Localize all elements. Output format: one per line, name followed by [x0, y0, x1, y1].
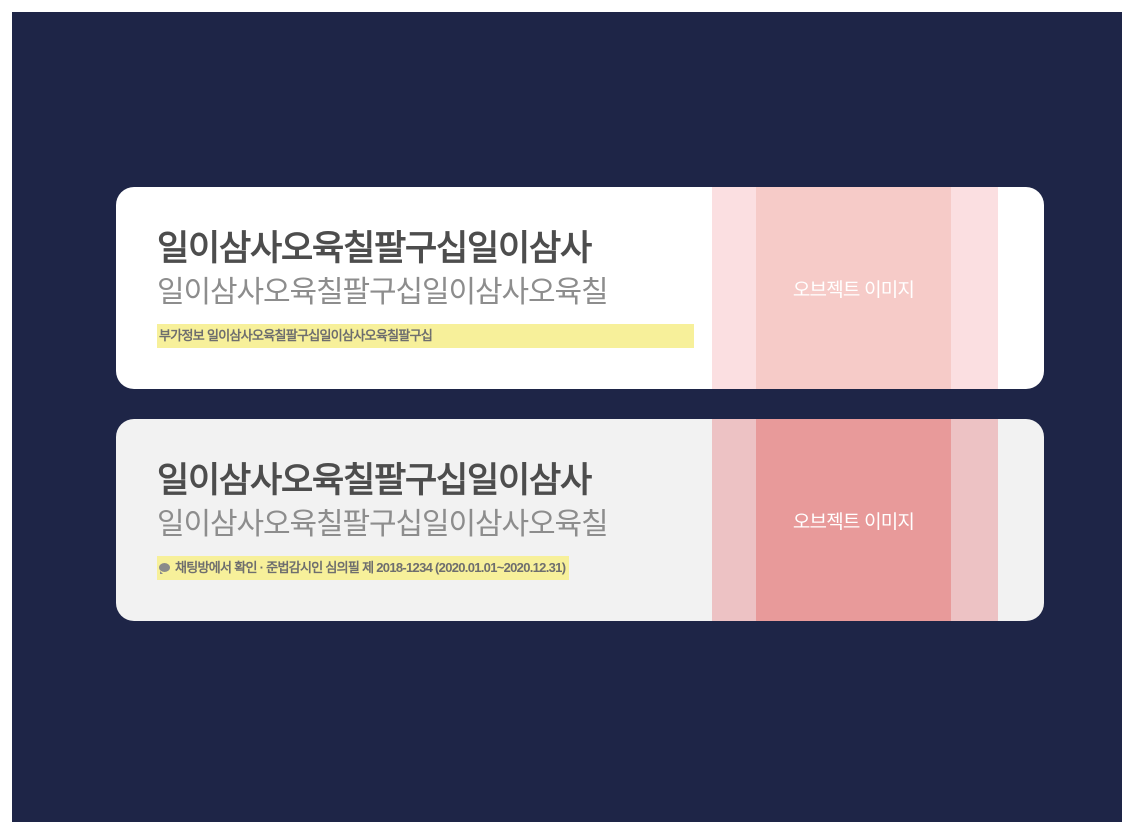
object-band-right: [951, 419, 998, 621]
object-image-area-2: 오브젝트 이미지: [712, 419, 1044, 621]
card-detail-highlight: 채팅방에서 확인 · 준법감시인 심의필 제 2018-1234 (2020.0…: [157, 556, 569, 580]
card-detail-text: 채팅방에서 확인 · 준법감시인 심의필 제 2018-1234 (2020.0…: [175, 561, 565, 574]
content-card-1[interactable]: 오브젝트 이미지 일이삼사오육칠팔구십일이삼사 일이삼사오육칠팔구십일이삼사오육…: [116, 187, 1044, 389]
card-text-column-1: 일이삼사오육칠팔구십일이삼사 일이삼사오육칠팔구십일이삼사오육칠 부가정보 일이…: [157, 187, 717, 389]
object-band-right: [951, 187, 998, 389]
card-title: 일이삼사오육칠팔구십일이삼사: [157, 228, 717, 271]
speech-bubble-icon: [159, 563, 170, 572]
object-band-left: [712, 419, 756, 621]
card-detail-row: 부가정보 일이삼사오육칠팔구십일이삼사오육칠팔구십: [157, 324, 717, 348]
object-image-label: 오브젝트 이미지: [756, 187, 951, 389]
card-text-column-2: 일이삼사오육칠팔구십일이삼사 일이삼사오육칠팔구십일이삼사오육칠 채팅방에서 확…: [157, 419, 717, 621]
object-image-area-1: 오브젝트 이미지: [712, 187, 1044, 389]
card-detail-row: 채팅방에서 확인 · 준법감시인 심의필 제 2018-1234 (2020.0…: [157, 556, 717, 580]
navy-stage: 오브젝트 이미지 일이삼사오육칠팔구십일이삼사 일이삼사오육칠팔구십일이삼사오육…: [12, 12, 1122, 822]
card-detail-text: 부가정보 일이삼사오육칠팔구십일이삼사오육칠팔구십: [159, 329, 432, 342]
card-subtitle: 일이삼사오육칠팔구십일이삼사오육칠: [157, 274, 717, 312]
card-detail-highlight: 부가정보 일이삼사오육칠팔구십일이삼사오육칠팔구십: [157, 324, 694, 348]
card-subtitle: 일이삼사오육칠팔구십일이삼사오육칠: [157, 506, 717, 544]
object-band-left: [712, 187, 756, 389]
card-title: 일이삼사오육칠팔구십일이삼사: [157, 460, 717, 503]
content-card-2[interactable]: 오브젝트 이미지 일이삼사오육칠팔구십일이삼사 일이삼사오육칠팔구십일이삼사오육…: [116, 419, 1044, 621]
object-image-label: 오브젝트 이미지: [756, 419, 951, 621]
